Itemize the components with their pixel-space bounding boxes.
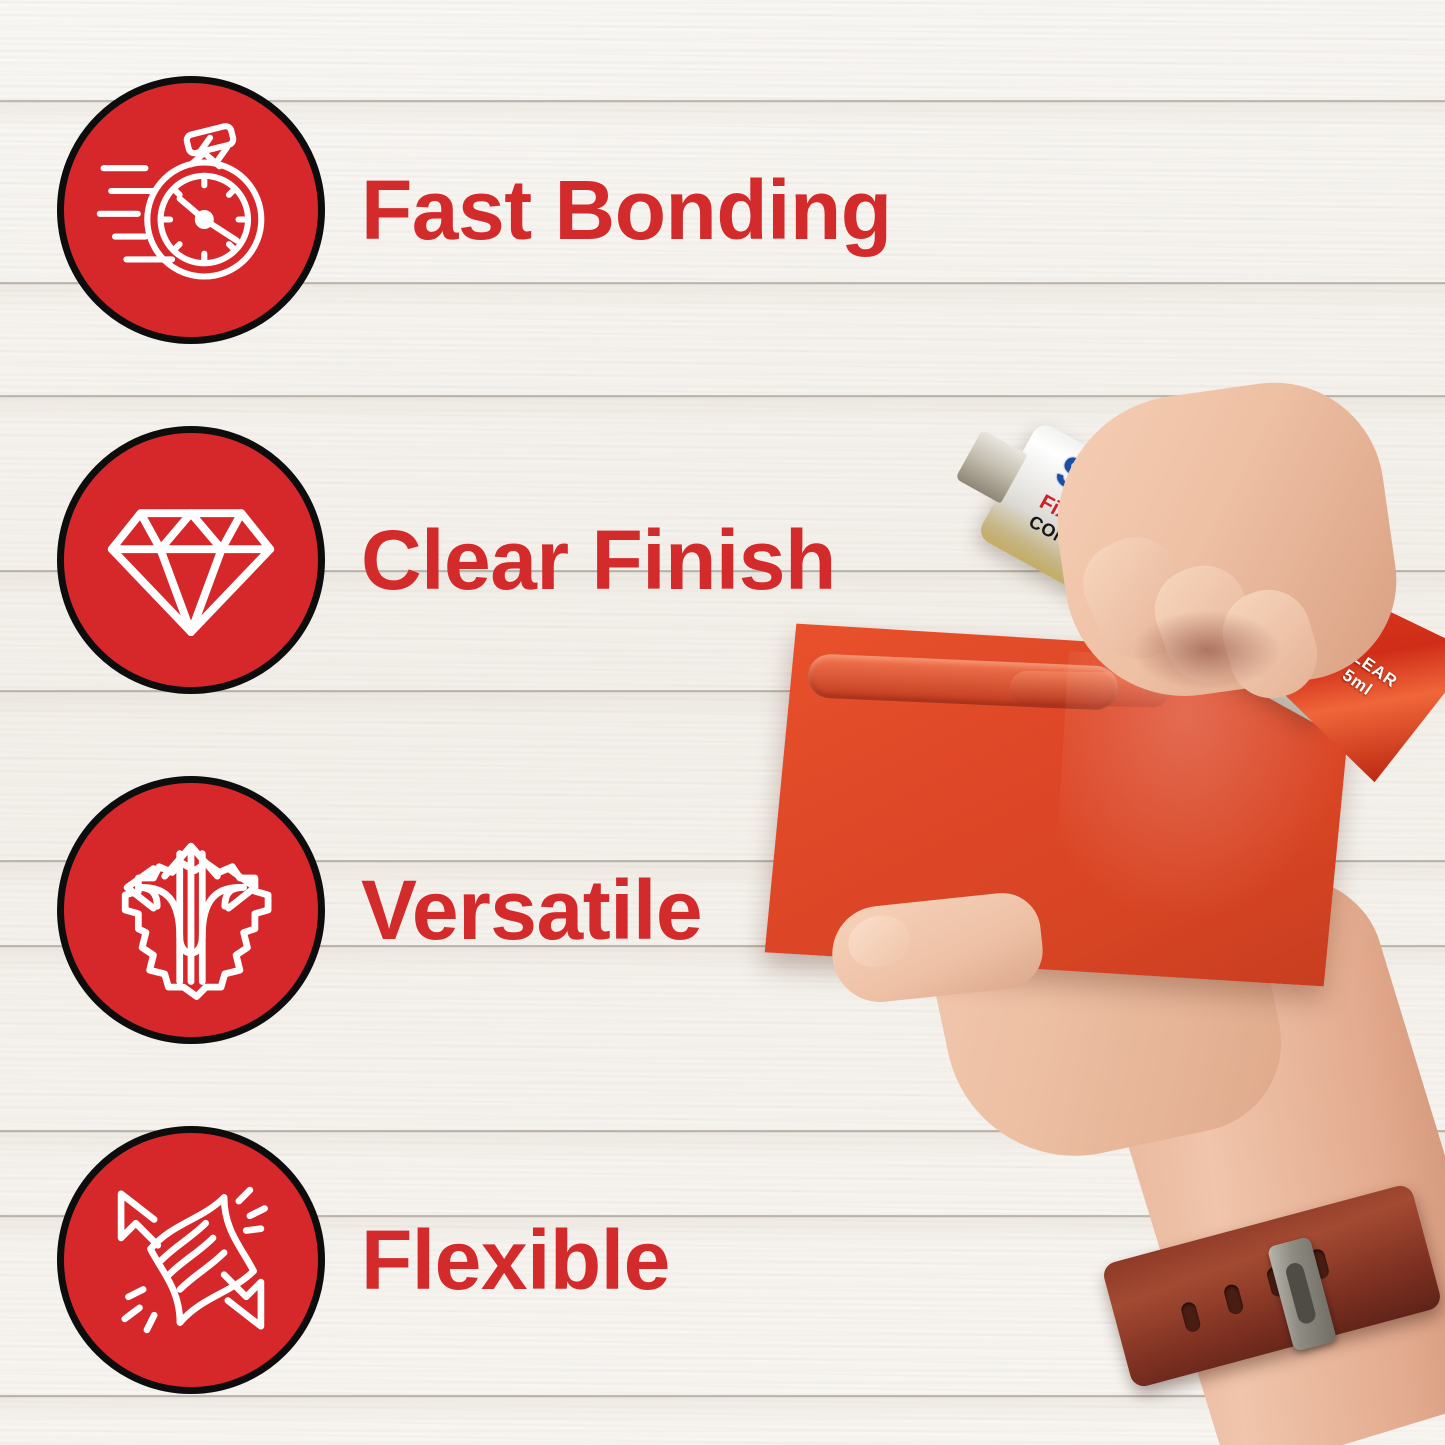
feature-icon-badge	[57, 776, 325, 1044]
diamond-icon	[101, 470, 281, 650]
feature-icon-badge	[57, 1126, 325, 1394]
stretch-arrows-icon	[99, 1168, 283, 1352]
feature-row-fast-bonding: Fast Bonding	[57, 76, 892, 344]
feature-label: Fast Bonding	[361, 168, 892, 252]
feature-label: Clear Finish	[361, 518, 836, 602]
feature-icon-badge	[57, 76, 325, 344]
feature-label: Flexible	[361, 1218, 670, 1302]
product-photo: STORMSURE Fixes Almost Ev CONTACT ADH CL…	[760, 360, 1445, 1445]
finger-shadow	[1132, 610, 1282, 690]
feature-row-flexible: Flexible	[57, 1126, 670, 1394]
feature-row-versatile: Versatile	[57, 776, 702, 1044]
feature-label: Versatile	[361, 868, 702, 952]
arrows-gear-icon	[97, 816, 285, 1004]
stopwatch-speed-icon	[96, 115, 286, 305]
feature-row-clear-finish: Clear Finish	[57, 426, 836, 694]
product-feature-graphic: STORMSURE Fixes Almost Ev CONTACT ADH CL…	[0, 0, 1445, 1445]
feature-icon-badge	[57, 426, 325, 694]
